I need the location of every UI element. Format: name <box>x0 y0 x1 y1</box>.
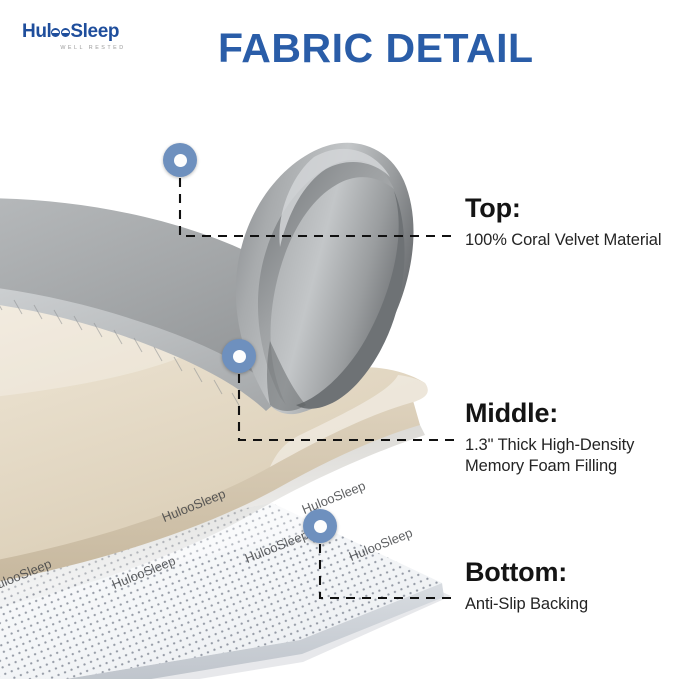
callout-top-description: 100% Coral Velvet Material <box>465 230 661 252</box>
callout-marker-top[interactable] <box>163 143 197 177</box>
callout-top-title: Top: <box>465 194 661 223</box>
callout-middle-title: Middle: <box>465 399 679 428</box>
callout-bottom: Bottom: Anti-Slip Backing <box>465 558 588 615</box>
callout-top: Top: 100% Coral Velvet Material <box>465 194 661 251</box>
callout-middle-description: 1.3" Thick High-Density Memory Foam Fill… <box>465 435 679 479</box>
callout-marker-bottom[interactable] <box>303 509 337 543</box>
sleeping-eye-right <box>61 28 70 37</box>
callout-middle: Middle: 1.3" Thick High-Density Memory F… <box>465 399 679 478</box>
page-title: FABRIC DETAIL <box>218 28 534 69</box>
product-illustration <box>0 105 450 635</box>
callout-bottom-description: Anti-Slip Backing <box>465 594 588 616</box>
marker-center-dot <box>174 154 187 167</box>
brand-logo: Hul Sleep WELL RESTED <box>22 22 162 51</box>
marker-center-dot <box>314 520 327 533</box>
brand-name-right: Sleep <box>70 22 119 41</box>
brand-tagline: WELL RESTED <box>22 45 162 51</box>
brand-name-left: Hul <box>22 22 51 41</box>
sleeping-eye-left <box>51 28 60 37</box>
brand-logo-wordmark: Hul Sleep <box>22 22 162 41</box>
sleeping-eyes-icon <box>51 28 70 37</box>
infographic-canvas: Hul Sleep WELL RESTED FABRIC DETAIL <box>0 0 679 679</box>
callout-marker-middle[interactable] <box>222 339 256 373</box>
callout-bottom-title: Bottom: <box>465 558 588 587</box>
marker-center-dot <box>233 350 246 363</box>
